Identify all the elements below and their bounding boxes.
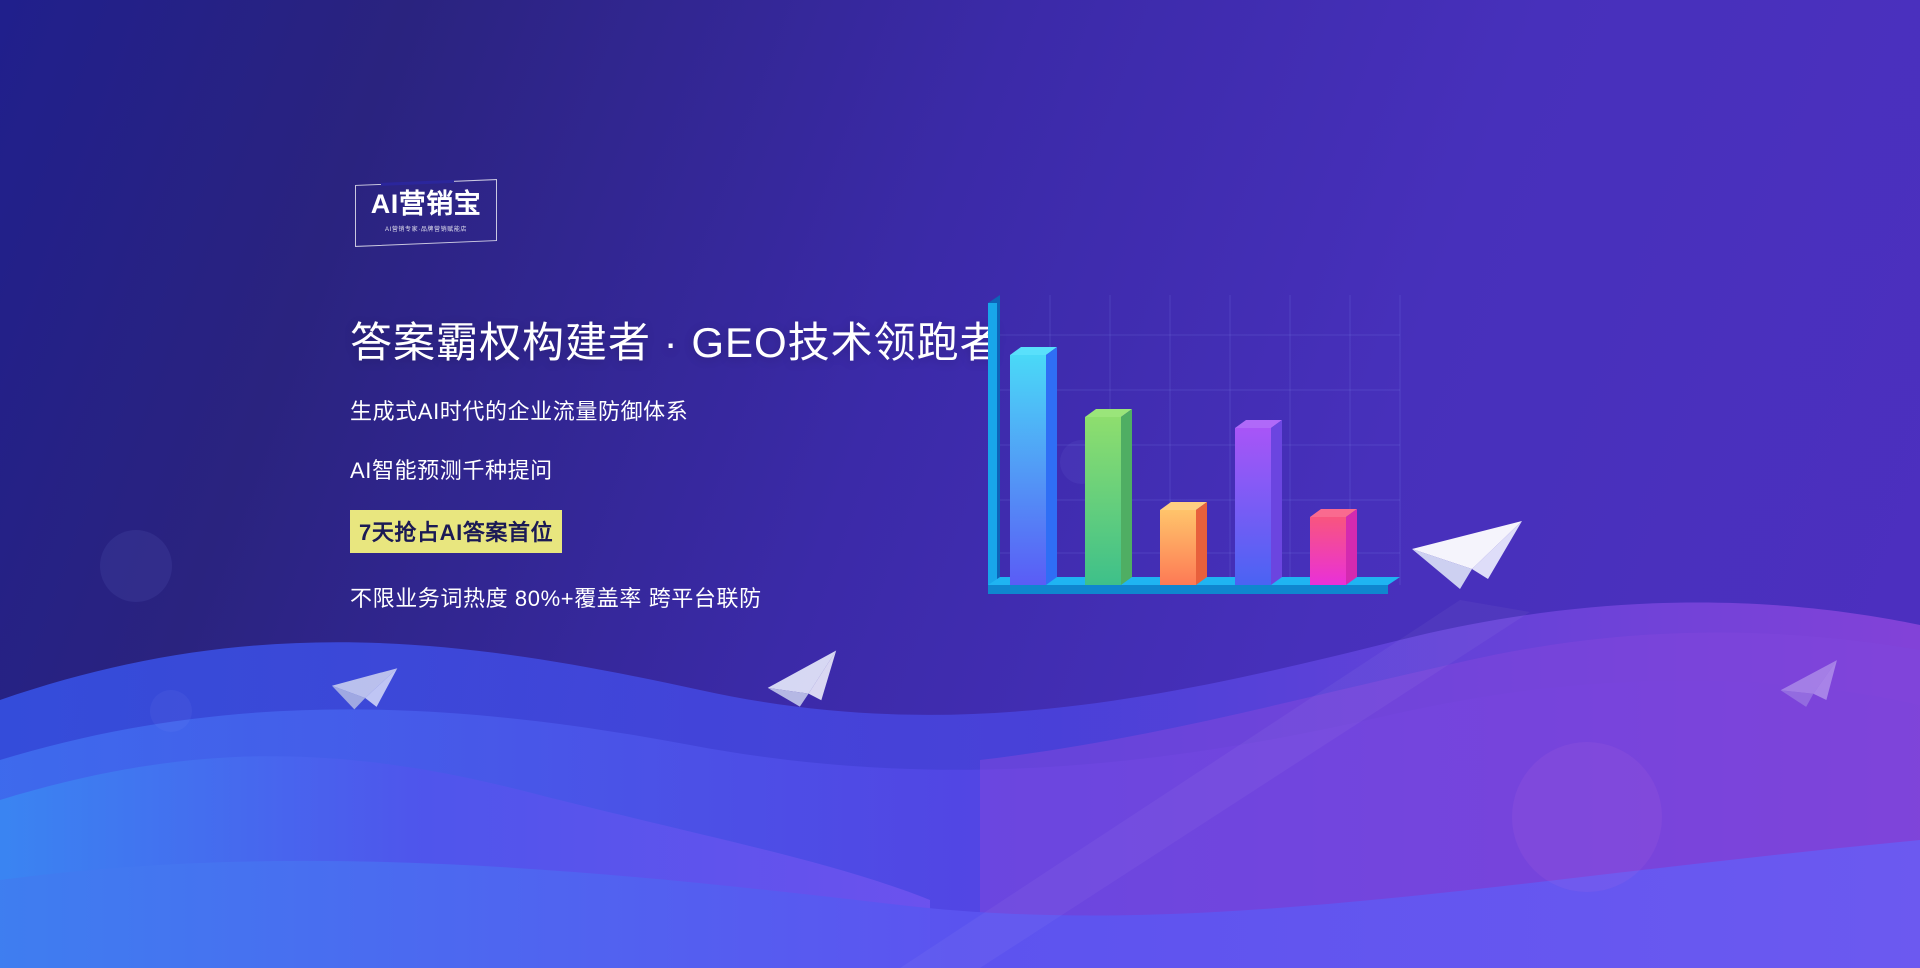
paper-plane-mid-left <box>762 646 846 712</box>
chart-bar <box>1010 345 1057 585</box>
paper-plane-lower-left <box>328 658 401 715</box>
hero-subline-1: 生成式AI时代的企业流量防御体系 <box>350 394 1050 426</box>
chart-bar <box>1085 409 1132 585</box>
paper-plane-right-large <box>1410 515 1530 595</box>
chart-bar <box>1160 502 1207 585</box>
logo-tagline: AI营销专家·品牌营销赋能店 <box>355 224 497 233</box>
decorative-circle <box>1512 742 1662 892</box>
brand-logo[interactable]: AI营销宝 AI营销专家·品牌营销赋能店 <box>355 182 497 244</box>
paper-plane-far-right <box>1775 656 1847 713</box>
decorative-circle <box>150 690 192 732</box>
chart-bar <box>1235 420 1282 585</box>
decorative-circle <box>100 530 172 602</box>
bar-chart-illustration <box>980 295 1450 655</box>
hero-subline-2: AI智能预测千种提问 <box>350 453 1050 485</box>
bar-chart-svg <box>980 295 1450 655</box>
chart-y-axis <box>988 295 1000 585</box>
hero-highlight-badge: 7天抢占AI答案首位 <box>350 510 562 553</box>
logo-wordmark: AI营销宝 <box>355 191 497 218</box>
chart-bar <box>1310 509 1357 585</box>
hero-highlight-wrapper: 7天抢占AI答案首位 <box>350 510 1050 553</box>
hero-copy: 答案霸权构建者 · GEO技术领跑者 生成式AI时代的企业流量防御体系 AI智能… <box>350 320 1050 613</box>
page-title: 答案霸权构建者 · GEO技术领跑者 <box>350 320 1050 366</box>
hero-banner: AI营销宝 AI营销专家·品牌营销赋能店 答案霸权构建者 · GEO技术领跑者 … <box>0 0 1920 968</box>
hero-subline-3: 不限业务词热度 80%+覆盖率 跨平台联防 <box>350 581 1050 613</box>
